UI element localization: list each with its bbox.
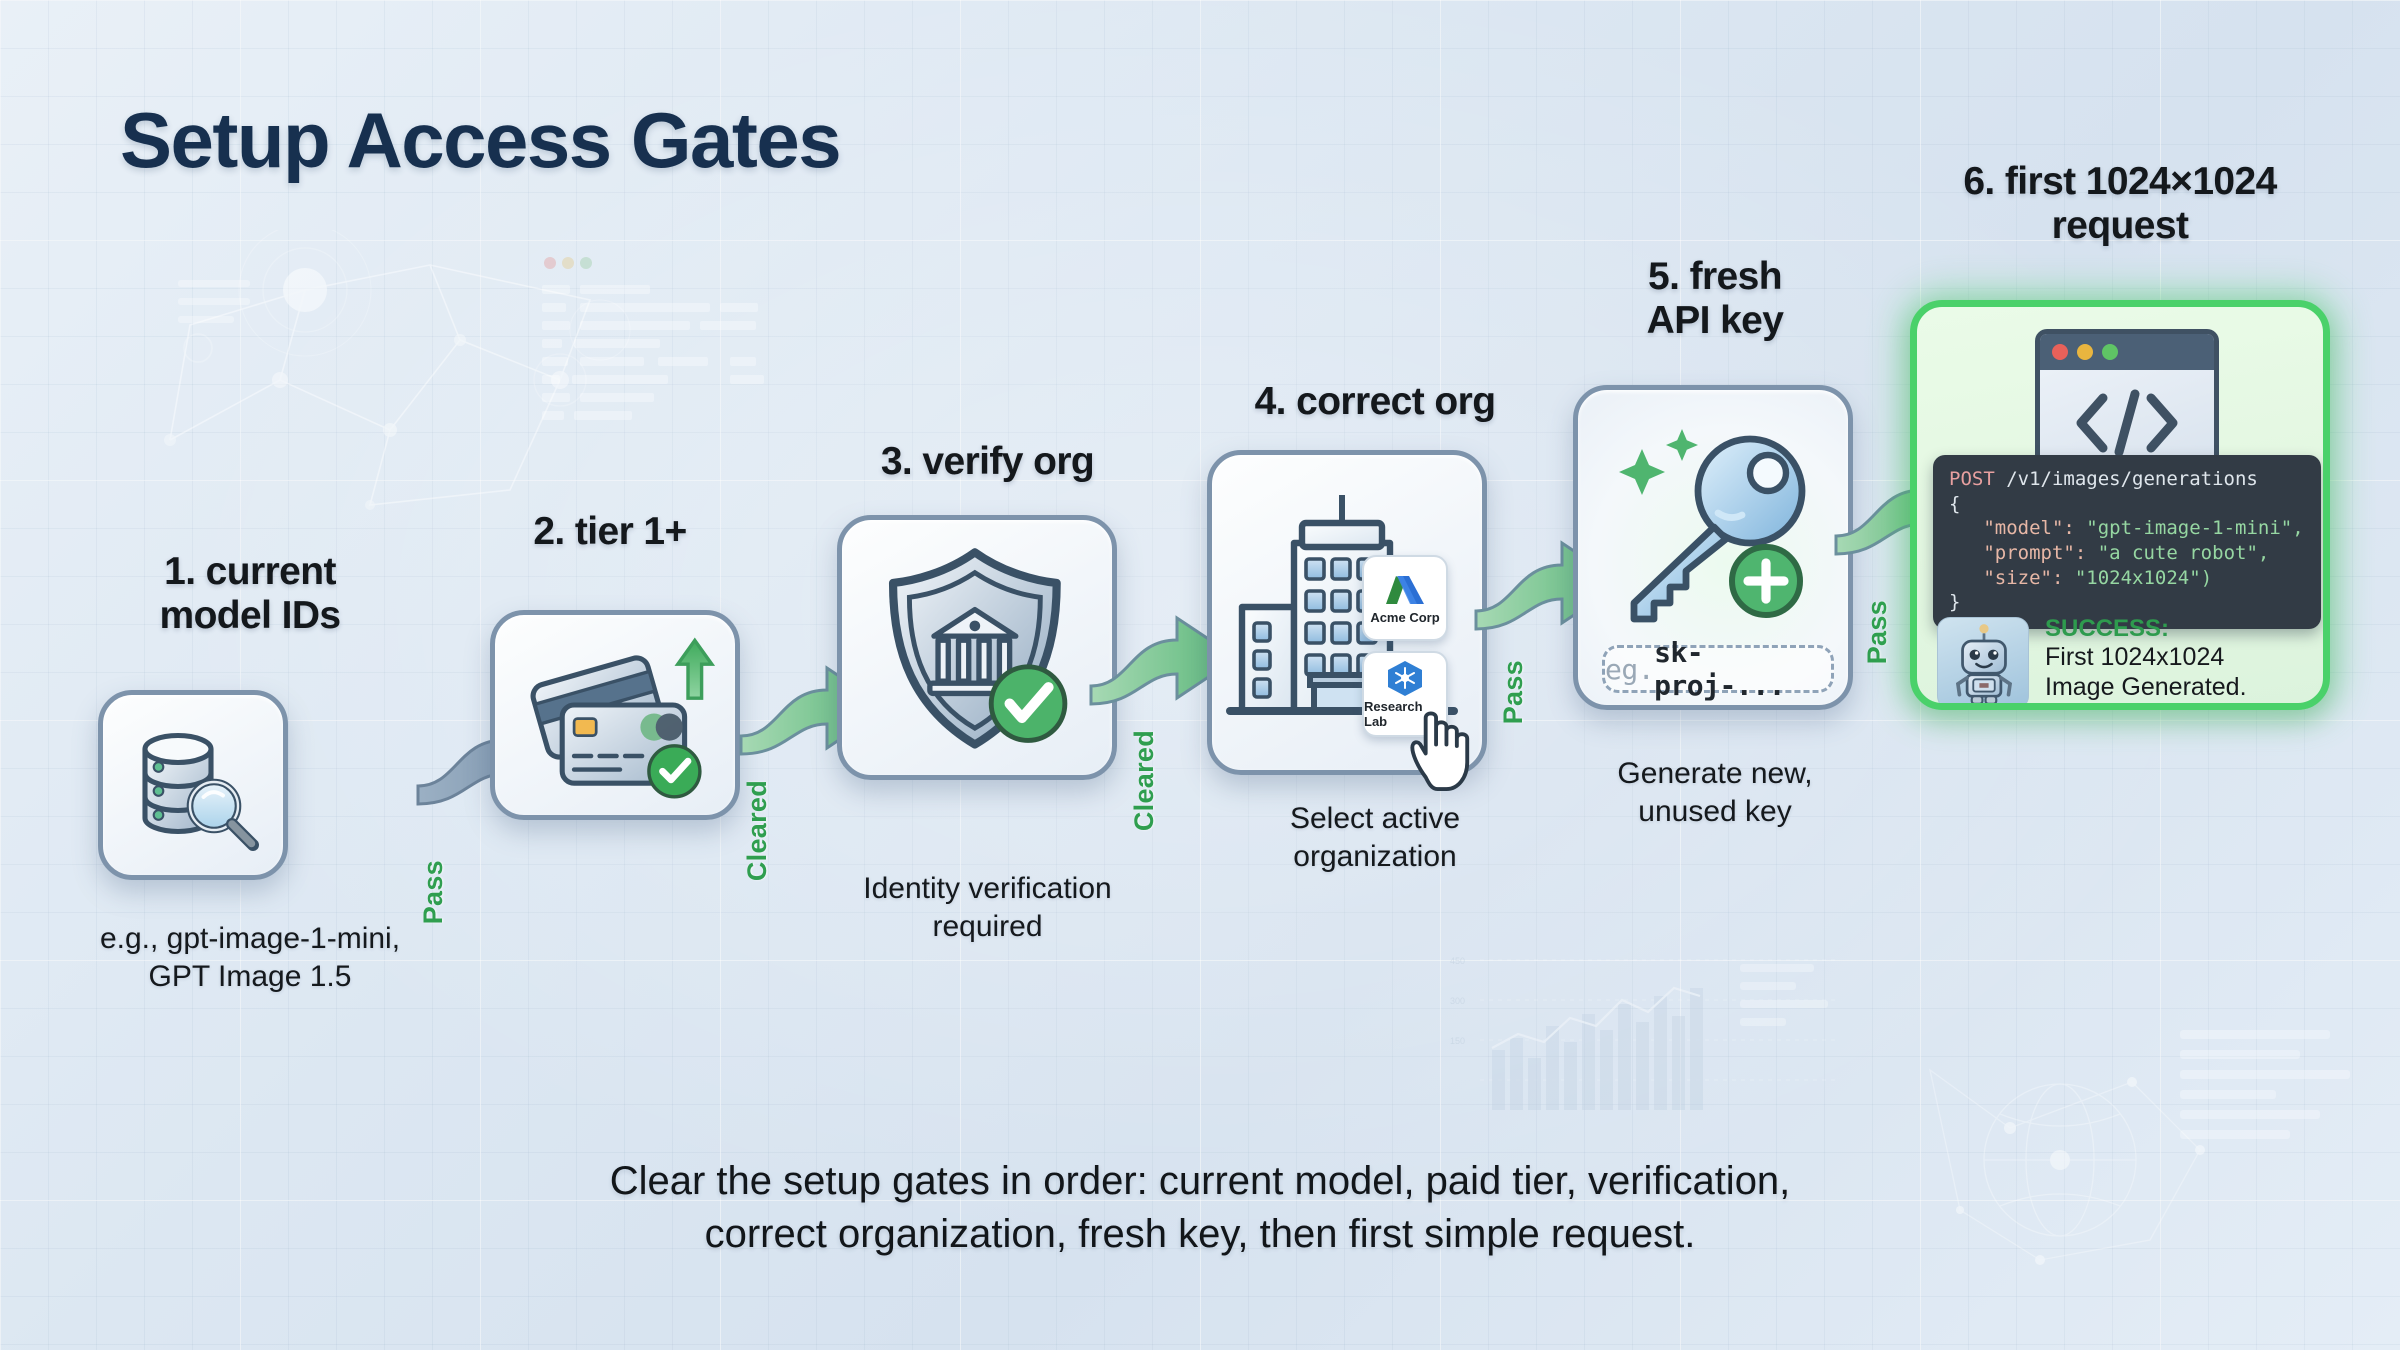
step-2-tier-1-plus: 2. tier 1+: [455, 510, 765, 930]
code-close-brace: }: [1949, 591, 1960, 613]
window-dot-green: [2102, 344, 2118, 360]
menu-lines-decoration: [178, 278, 258, 338]
code-model-key: "model":: [1983, 517, 2075, 539]
step-5-card[interactable]: eg.sk-proj-...: [1573, 385, 1853, 710]
step-5-caption: Generate new, unused key: [1555, 755, 1875, 830]
step-6-request-panel[interactable]: POST /v1/images/generations { "model": "…: [1910, 300, 2330, 710]
step-1-current-model-ids: 1. current model IDs: [60, 550, 440, 1110]
step-5-fresh-api-key: 5. fresh API key: [1555, 255, 1875, 815]
svg-text:450: 450: [1450, 956, 1465, 966]
code-path: /v1/images/generations: [2006, 468, 2258, 490]
code-prompt-key: "prompt":: [1983, 542, 2086, 564]
step-4-card[interactable]: Acme Corp Research Lab: [1207, 450, 1487, 775]
api-request-code-block: POST /v1/images/generations { "model": "…: [1933, 455, 2321, 629]
step-5-title: 5. fresh API key: [1555, 255, 1875, 342]
browser-titlebar: [2040, 334, 2214, 370]
arrow-label-pass-2: Pass: [1498, 660, 1529, 724]
window-dot-yellow: [2077, 344, 2093, 360]
org-chip-acme-corp-label: Acme Corp: [1370, 610, 1439, 625]
svg-text:300: 300: [1450, 996, 1465, 1006]
bar-chart-decoration: 450 300 150: [1440, 930, 1860, 1150]
code-size-key: "size":: [1983, 567, 2063, 589]
acme-triangle-logo: [1384, 572, 1426, 608]
summary-line-1: Clear the setup gates in order: current …: [0, 1155, 2400, 1208]
api-key-placeholder-field[interactable]: eg.sk-proj-...: [1602, 645, 1834, 693]
success-message: SUCCESS: First 1024x1024 Image Generated…: [2045, 615, 2325, 702]
infographic-canvas: 450 300 150: [0, 0, 2400, 1350]
hand-cursor-icon: [1404, 703, 1480, 795]
step-4-title: 4. correct org: [1185, 380, 1565, 424]
code-size-value: "1024x1024"): [2075, 567, 2212, 589]
success-line-1: First 1024x1024: [2045, 643, 2325, 673]
window-dot-red: [2052, 344, 2068, 360]
page-title: Setup Access Gates: [120, 95, 840, 186]
success-title: SUCCESS:: [2045, 615, 2325, 643]
code-brackets-icon: [2067, 382, 2187, 464]
generated-robot-image: [1937, 617, 2029, 709]
summary-line-2: correct organization, fresh key, then fi…: [0, 1208, 2400, 1261]
code-open-brace: {: [1949, 493, 1960, 515]
credit-cards-upgrade-icon: [515, 637, 725, 807]
robot-icon: [1938, 618, 2029, 709]
api-key-prefix: eg.: [1605, 653, 1654, 686]
api-key-value: sk-proj-...: [1654, 636, 1831, 702]
code-method: POST: [1949, 468, 1995, 490]
network-decoration: [130, 230, 650, 530]
arrow-label-cleared-1: Cleared: [742, 780, 773, 881]
arrow-label-pass-1: Pass: [418, 860, 449, 924]
code-model-value: "gpt-image-1-mini",: [2086, 517, 2303, 539]
step-1-caption: e.g., gpt-image-1-mini, GPT Image 1.5: [60, 920, 440, 995]
step-1-title: 1. current model IDs: [60, 550, 440, 637]
step-4-caption: Select active organization: [1185, 800, 1565, 875]
step-3-caption: Identity verification required: [815, 870, 1160, 945]
arrow-label-cleared-2: Cleared: [1129, 730, 1160, 831]
code-prompt-value: "a cute robot",: [2098, 542, 2270, 564]
success-line-2: Image Generated.: [2045, 673, 2325, 703]
org-chip-acme-corp[interactable]: Acme Corp: [1362, 555, 1448, 641]
arrow-label-pass-3: Pass: [1862, 600, 1893, 664]
step-3-title: 3. verify org: [815, 440, 1160, 484]
step-1-card[interactable]: [98, 690, 288, 880]
database-search-icon: [121, 713, 271, 863]
step-6-title: 6. first 1024×1024 request: [1900, 160, 2340, 247]
step-3-card[interactable]: [837, 515, 1117, 780]
step-2-title: 2. tier 1+: [455, 510, 765, 554]
research-hexagon-logo: [1384, 659, 1426, 697]
text-block-decoration: [2180, 1030, 2380, 1170]
step-2-card[interactable]: [490, 610, 740, 820]
key-add-icon: [1598, 425, 1838, 635]
summary-text: Clear the setup gates in order: current …: [0, 1155, 2400, 1261]
code-snippet-decoration: [540, 255, 820, 455]
svg-text:150: 150: [1450, 1036, 1465, 1046]
shield-bank-verified-icon: [866, 540, 1096, 765]
